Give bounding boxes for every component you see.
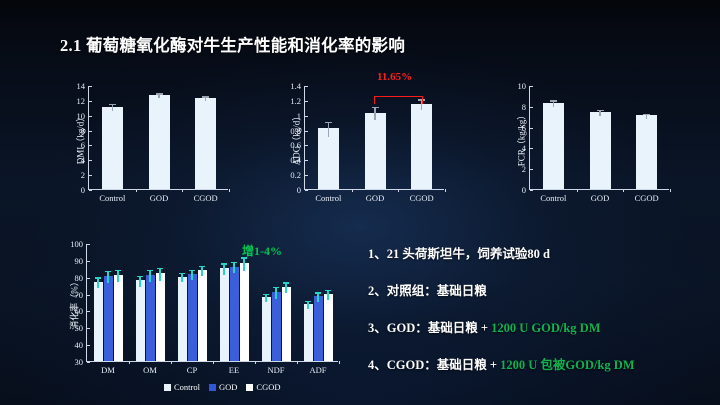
legend-label: Control [174,382,200,392]
error-bar [275,287,276,298]
bar [272,292,281,361]
y-axis-tick: 0 [522,185,530,195]
x-axis-tick: EE [229,365,239,375]
error-bar-cap [305,301,311,302]
error-bar-cap [315,292,321,293]
chart-adg: 00.20.40.60.811.21.4ControlGODCGODADG（kg… [262,78,452,210]
error-bar-cap [95,277,101,278]
x-axis-mark [445,189,446,192]
bar [365,113,386,190]
error-bar-cap [325,290,331,291]
y-axis-tick: 40 [75,340,88,350]
error-bar [327,290,328,300]
bar [102,107,123,189]
chart-dmi: 02468101214ControlGODCGODDMI（kg/d） [46,78,236,210]
y-axis-tick: 90 [75,256,88,266]
x-axis-tick: GOD [366,193,384,203]
error-bar [191,270,192,280]
comparison-bracket [374,96,423,104]
y-axis-tick: 14 [77,81,90,91]
bar [590,112,611,189]
x-axis-tick: DM [101,365,115,375]
y-axis-label: DMI（kg/d） [74,109,87,169]
error-bar [374,107,375,120]
bar [146,275,155,361]
error-bar [317,292,318,301]
chart-digestibility: 30405060708090100DMOMCPEENDFADF消化率（%）Con… [46,236,346,388]
x-axis-mark [297,361,298,364]
bar [114,275,123,361]
x-axis-tick: CGOD [194,193,218,203]
error-bar-cap [325,122,332,123]
x-axis-tick: NDF [267,365,284,375]
bar [94,282,103,361]
bar [230,267,239,361]
chart-fcr: 0246810ControlGODCGODFCR（kg/kg） [487,78,677,210]
bar [636,115,657,189]
error-bar [233,262,234,273]
bar [136,280,145,361]
x-axis-mark [129,361,130,364]
bar [262,297,271,361]
error-bar [159,268,160,281]
bar [188,274,197,361]
increase-annotation: 增1-4% [242,242,282,259]
bar [411,104,432,189]
x-axis-tick: GOD [150,193,168,203]
bullet-item: 4、CGOD：基础日粮 + 1200 U 包被GOD/kg DM [368,354,708,373]
error-bar-cap [109,104,116,105]
x-axis-tick: ADF [309,365,326,375]
legend-item: GOD [209,382,237,392]
x-axis-mark [339,361,340,364]
y-axis-tick: 100 [70,239,87,249]
x-axis-mark [213,361,214,364]
legend-swatch-icon [209,384,216,391]
error-bar-cap [189,270,195,271]
bar [282,287,291,361]
error-bar [97,277,98,288]
y-axis-label: 消化率（%） [68,274,81,334]
error-bar-cap [643,114,650,115]
error-bar-cap [221,263,227,264]
error-bar-cap [597,110,604,111]
legend-item: Control [164,382,200,392]
bar [318,128,339,189]
error-bar-cap [156,93,163,94]
error-bar [243,257,244,270]
error-bar [285,282,286,293]
error-bar-cap [179,273,185,274]
legend-item: CGOD [246,382,280,392]
error-bar [328,122,329,137]
percent-annotation: 11.65% [377,71,412,83]
bullet-number: 2、 [368,284,387,298]
bar [543,103,564,189]
bullet-item: 1、21 头荷斯坦牛，饲养试验80 d [368,243,708,262]
error-bar [107,271,108,282]
error-bar-cap [263,294,269,295]
error-bar [201,266,202,277]
x-axis-tick: Control [315,193,341,203]
x-axis-mark [255,361,256,364]
error-bar [265,294,266,303]
error-bar-cap [202,96,209,97]
bullet-text: 21 头荷斯坦牛，饲养试验80 d [387,247,550,261]
error-bar-cap [273,287,279,288]
x-axis-tick: OM [143,365,157,375]
x-axis-mark [229,189,230,192]
bar [195,98,216,189]
legend-swatch-icon [164,384,171,391]
error-bar-cap [283,282,289,283]
x-axis-mark [623,189,624,192]
x-axis-tick: CP [187,365,197,375]
error-bar [223,263,224,274]
legend-label: CGOD [256,382,280,392]
error-bar-cap [105,271,111,272]
plot-area: 02468101214ControlGODCGOD [88,86,228,190]
bar [304,304,313,361]
error-bar-cap [199,266,205,267]
bullet-text: CGOD：基础日粮 + [387,358,500,372]
error-bar [149,270,150,282]
error-bar-cap [157,268,163,269]
bullet-item: 2、对照组：基础日粮 [368,280,708,299]
chart-legend: ControlGODCGOD [164,382,281,392]
x-axis-mark [182,189,183,192]
x-axis-tick: GOD [591,193,609,203]
y-axis-label: ADG（kg/d） [290,109,303,169]
error-bar-cap [147,270,153,271]
bullet-text: GOD：基础日粮 + [387,321,491,335]
error-bar-cap [137,276,143,277]
bullet-number: 4、 [368,358,387,372]
error-bar [181,273,182,282]
y-axis-tick: 0 [81,185,89,195]
y-axis-tick: 10 [518,81,531,91]
bullet-number: 1、 [368,247,387,261]
bullet-item: 3、GOD：基础日粮 + 1200 U GOD/kg DM [368,317,708,336]
legend-label: GOD [219,382,237,392]
bullet-number: 3、 [368,321,387,335]
plot-area: 30405060708090100DMOMCPEENDFADF [86,244,338,362]
page-title: 2.1 葡萄糖氧化酶对牛生产性能和消化率的影响 [60,32,405,56]
error-bar-cap [372,107,379,108]
bullet-highlight: 1200 U 包被GOD/kg DM [500,358,634,372]
slide-canvas: 2.1 葡萄糖氧化酶对牛生产性能和消化率的影响 02468101214Contr… [0,0,720,405]
y-axis-tick: 1.2 [290,96,305,106]
error-bar [139,276,140,287]
x-axis-mark [670,189,671,192]
y-axis-tick: 0 [297,185,305,195]
bar [198,270,207,361]
y-axis-tick: 1.4 [290,81,305,91]
bar [156,273,165,361]
y-axis-tick: 2 [81,170,89,180]
x-axis-tick: Control [99,193,125,203]
y-axis-tick: 0.2 [290,170,305,180]
y-axis-tick: 30 [75,357,88,367]
x-axis-mark [171,361,172,364]
x-axis-mark [398,189,399,192]
bullet-list: 1、21 头荷斯坦牛，饲养试验80 d2、对照组：基础日粮3、GOD：基础日粮 … [368,243,708,391]
bullet-text: 对照组：基础日粮 [387,284,487,298]
y-axis-tick: 12 [77,96,90,106]
bar [149,95,170,189]
x-axis-tick: CGOD [635,193,659,203]
x-axis-tick: CGOD [410,193,434,203]
x-axis-tick: Control [540,193,566,203]
bar [104,276,113,361]
x-axis-mark [352,189,353,192]
x-axis-mark [136,189,137,192]
bar [314,296,323,361]
error-bar-cap [115,270,121,271]
error-bar-cap [231,262,237,263]
bullet-highlight: 1200 U GOD/kg DM [491,321,600,335]
bar [324,294,333,361]
plot-area: 0246810ControlGODCGOD [529,86,669,190]
error-bar [117,270,118,282]
bar [178,277,187,361]
error-bar-cap [550,100,557,101]
bar [240,263,249,361]
x-axis-mark [577,189,578,192]
bar [220,268,229,361]
y-axis-label: FCR（kg/kg） [515,109,528,169]
legend-swatch-icon [246,384,253,391]
